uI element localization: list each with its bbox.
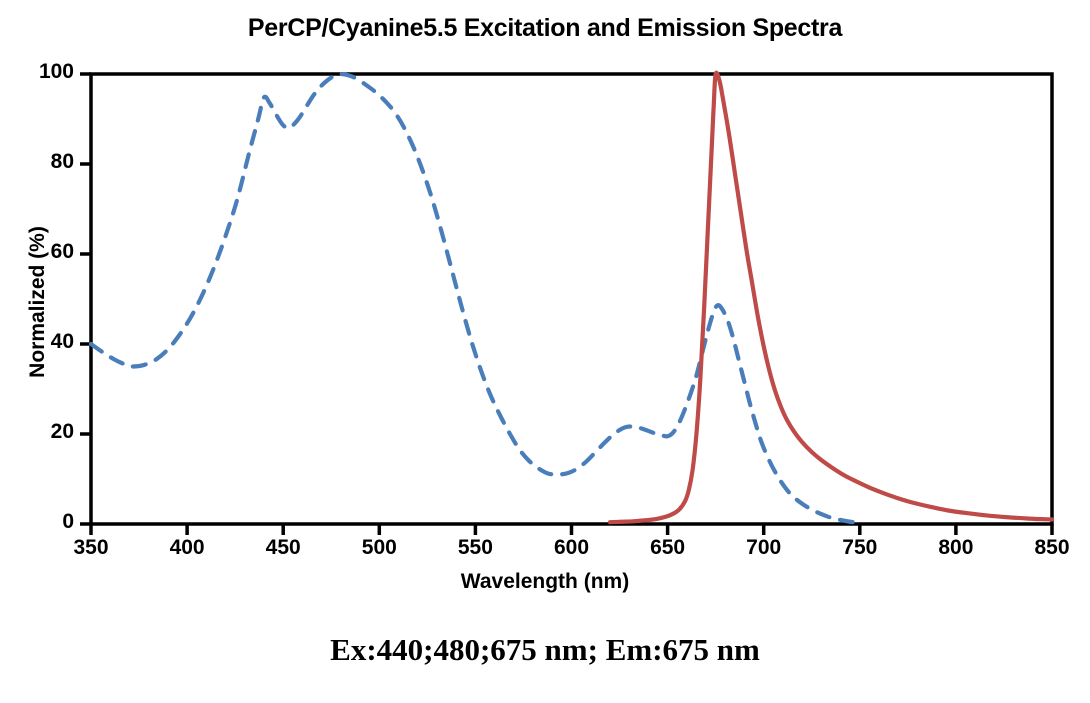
y-tick-label-20: 20	[14, 420, 74, 444]
y-axis-label: Normalized (%)	[26, 202, 50, 402]
x-tick-label-350: 350	[56, 536, 126, 560]
emission-curve	[610, 73, 1052, 523]
x-tick-label-850: 850	[1017, 536, 1087, 560]
plot-canvas	[0, 0, 1090, 703]
chart-caption: Ex:440;480;675 nm; Em:675 nm	[0, 632, 1090, 668]
x-tick-label-450: 450	[248, 536, 318, 560]
x-tick-label-400: 400	[152, 536, 222, 560]
x-tick-label-550: 550	[440, 536, 510, 560]
plot-border	[91, 74, 1052, 524]
plot-frame	[91, 74, 1052, 524]
spectra-figure: PerCP/Cyanine5.5 Excitation and Emission…	[0, 0, 1090, 703]
x-tick-label-700: 700	[729, 536, 799, 560]
x-tick-label-600: 600	[537, 536, 607, 560]
x-tick-label-750: 750	[825, 536, 895, 560]
x-tick-label-800: 800	[921, 536, 991, 560]
x-tick-label-650: 650	[633, 536, 703, 560]
y-tick-label-0: 0	[14, 510, 74, 534]
x-tick-label-500: 500	[344, 536, 414, 560]
y-tick-label-100: 100	[14, 60, 74, 84]
x-axis-label: Wavelength (nm)	[0, 570, 1090, 594]
y-tick-label-80: 80	[14, 150, 74, 174]
excitation-curve	[91, 74, 860, 523]
